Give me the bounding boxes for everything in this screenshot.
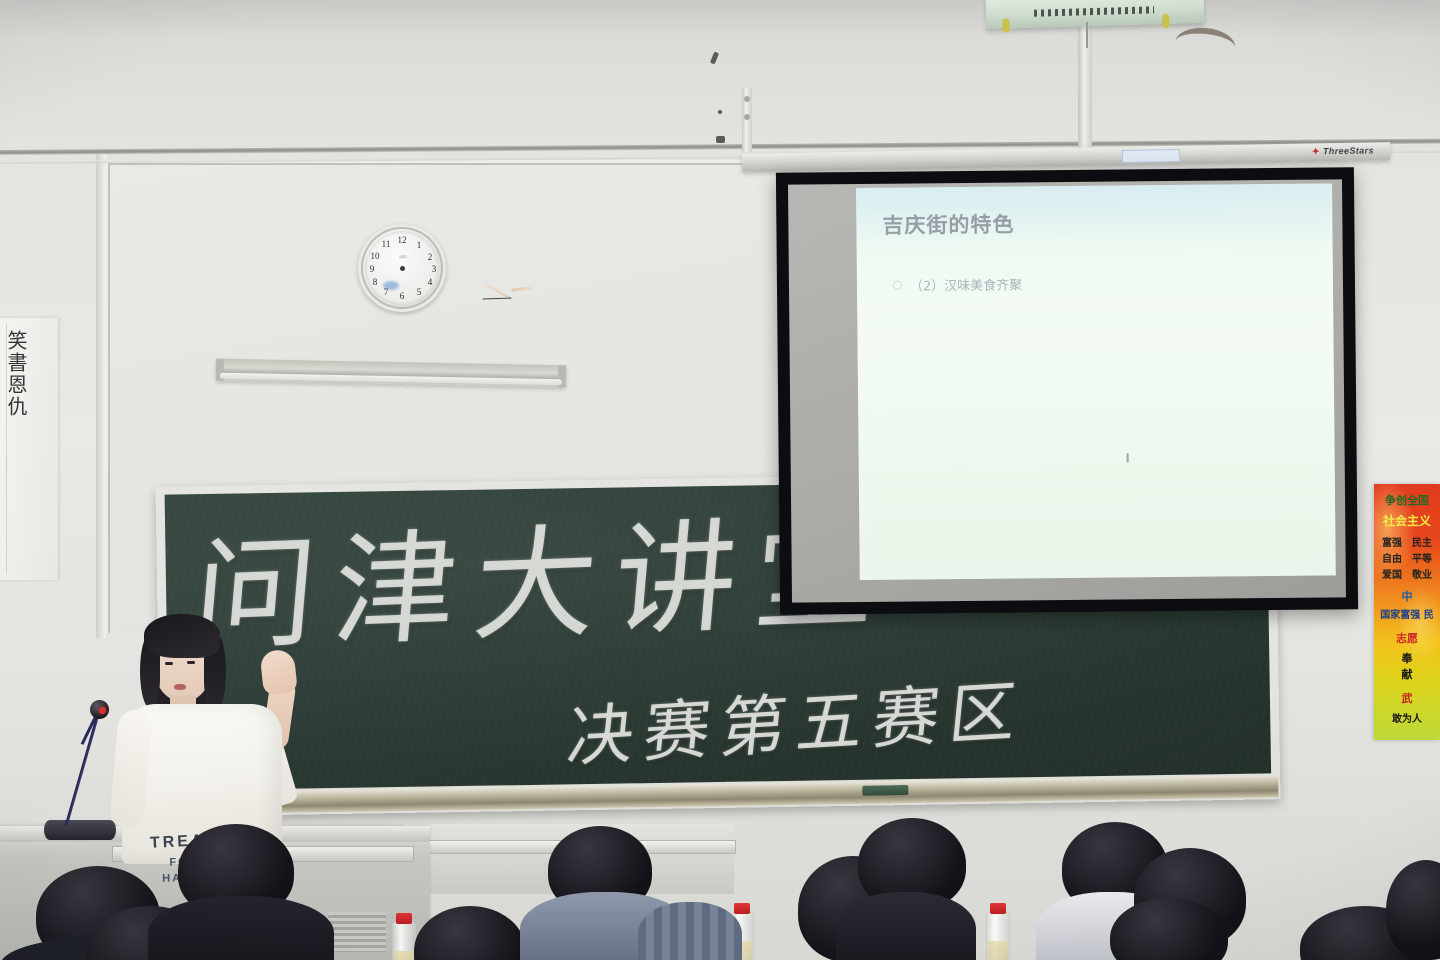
clock-number-6: 6 (396, 291, 408, 301)
clock-number-10: 10 (369, 251, 381, 261)
bottle-cap-icon (990, 903, 1006, 914)
clock-number-1: 1 (413, 240, 425, 250)
audience-shoulders (836, 892, 976, 960)
clock-number-12: 12 (396, 235, 408, 245)
ceiling-fixture-vent (1034, 6, 1154, 16)
projected-slide: 吉庆街的特色 （2）汉味美食齐聚 (856, 183, 1336, 580)
clock-brand: ajm (393, 253, 413, 263)
eraser-icon[interactable] (862, 785, 908, 796)
housing-sticker (1122, 149, 1180, 163)
bullet-dot-icon (893, 281, 902, 290)
poster-line-5: 中 (1374, 588, 1440, 604)
presenter-mouth (174, 684, 186, 690)
bottle-cap-icon (734, 903, 750, 914)
clock-number-8: 8 (369, 277, 381, 287)
clock-number-5: 5 (413, 287, 425, 297)
poster-line-0: 争创全国 (1374, 492, 1440, 508)
wall-nail-3 (716, 136, 725, 143)
wall-clock: 12 1 2 3 4 5 6 7 8 9 10 11 ajm (358, 224, 446, 312)
slide-bullet-text: （2）汉味美食齐聚 (910, 274, 1022, 294)
podium-vent (328, 912, 386, 952)
microphone-base (44, 820, 116, 840)
screen-mount-bracket (742, 88, 752, 152)
poster-line-10: 武 (1374, 690, 1440, 706)
presenter: TREASURE FORTUNE HAPPINESS (118, 612, 318, 862)
wall-poster: 争创全国 社会主义 富强 民主 自由 平等 爱国 敬业 中 国家富强 民 志愿 … (1374, 484, 1440, 740)
brand-star-icon: ✦ (1312, 146, 1320, 156)
water-bottle (986, 912, 1010, 960)
bottle-label (988, 941, 1008, 960)
presenter-eye-right (187, 661, 195, 664)
audience-shoulders (148, 896, 334, 960)
ceiling-wire (1086, 22, 1088, 48)
audience-shoulders (638, 902, 742, 960)
calligraphy-scroll: 笑書恩仇 (0, 318, 58, 580)
clock-center-pin (400, 266, 405, 271)
projector-brand-label: ✦ThreeStars (1312, 145, 1374, 157)
poster-line-8: 奉 (1374, 650, 1440, 666)
classroom-photo: 笑書恩仇 12 1 2 3 4 5 6 7 8 9 10 11 ajm (0, 0, 1440, 960)
slide-title: 吉庆街的特色 (882, 208, 1014, 239)
presenter-hair-front (144, 614, 220, 658)
brand-name: ThreeStars (1323, 145, 1374, 156)
poster-line-11: 敢为人 (1374, 710, 1440, 725)
poster-line-9: 献 (1374, 666, 1440, 682)
poster-line-2: 富强 民主 (1374, 534, 1440, 549)
wall-nail-2 (718, 110, 722, 114)
screen-surface: 吉庆街的特色 （2）汉味美食齐聚 (788, 179, 1346, 602)
clock-smudge (383, 281, 399, 290)
bottle-label (394, 951, 414, 960)
clock-number-4: 4 (424, 277, 436, 287)
clock-face: 12 1 2 3 4 5 6 7 8 9 10 11 ajm (365, 231, 439, 305)
presenter-raised-hand (259, 648, 297, 695)
water-bottle (392, 922, 416, 960)
clock-number-3: 3 (428, 264, 440, 274)
presenter-eye-left (165, 662, 173, 665)
clock-number-2: 2 (424, 252, 436, 262)
poster-line-1: 社会主义 (1374, 512, 1440, 529)
ceiling-fixture-screw-left (1002, 18, 1009, 32)
clock-number-11: 11 (380, 239, 392, 249)
poster-line-4: 爱国 敬业 (1374, 566, 1440, 581)
mouse-cursor-icon (1127, 453, 1129, 462)
projector-screen: 吉庆街的特色 （2）汉味美食齐聚 (776, 167, 1358, 615)
poster-line-7: 志愿 (1374, 630, 1440, 646)
clock-number-9: 9 (366, 264, 378, 274)
poster-line-3: 自由 平等 (1374, 550, 1440, 565)
bottle-cap-icon (396, 913, 412, 924)
microphone-indicator-light (99, 707, 106, 714)
scroll-text: 笑書恩仇 (0, 330, 28, 418)
slide-bullet-item: （2）汉味美食齐聚 (893, 274, 1022, 294)
ceiling-fixture-screw-right (1162, 14, 1169, 28)
poster-line-6: 国家富强 民 (1374, 606, 1440, 621)
